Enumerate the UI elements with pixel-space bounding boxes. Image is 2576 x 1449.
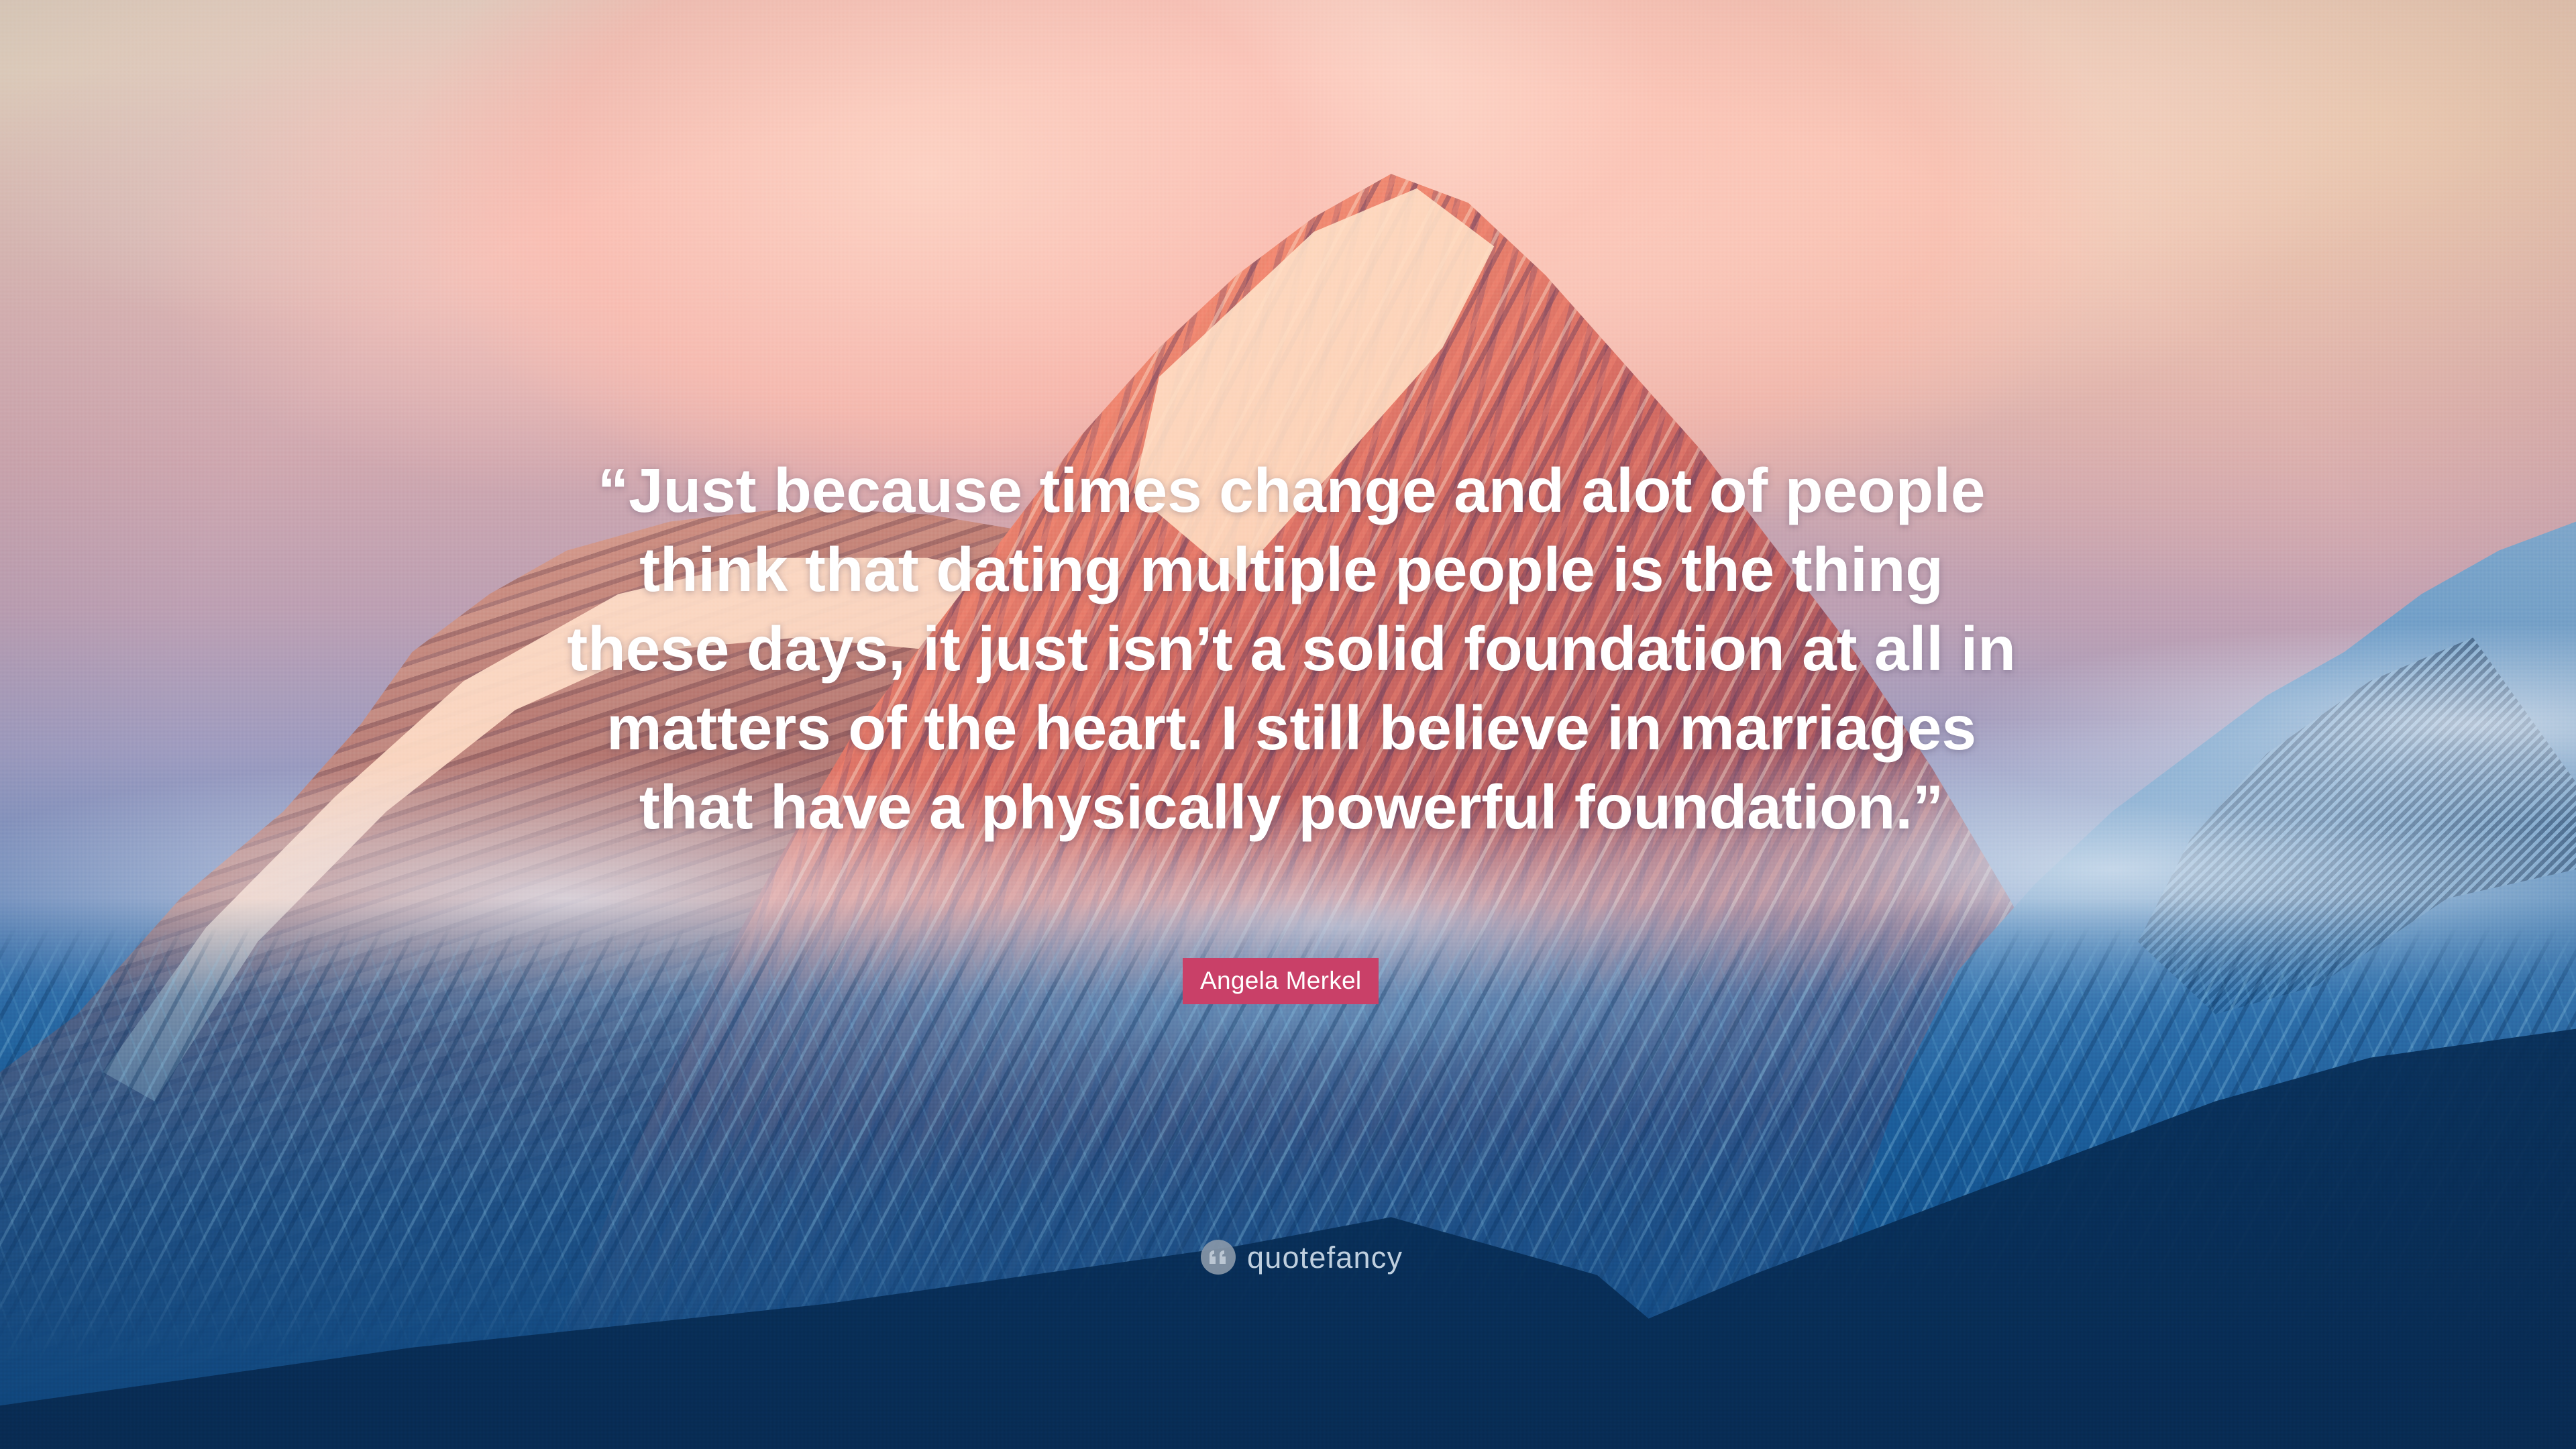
- quote-line-3: these days, it just isn’t a solid founda…: [463, 609, 2120, 688]
- quote-line-4: matters of the heart. I still believe in…: [463, 688, 2120, 767]
- author-badge[interactable]: Angela Merkel: [1183, 958, 1379, 1004]
- quote-block: “Just because times change and alot of p…: [463, 451, 2120, 847]
- quote-poster: “Just because times change and alot of p…: [0, 0, 2576, 1449]
- quotefancy-watermark[interactable]: quotefancy: [1201, 1240, 1403, 1275]
- quote-line-1: “Just because times change and alot of p…: [463, 451, 2120, 530]
- quote-mark-icon: [1201, 1240, 1236, 1275]
- quotefancy-wordmark: quotefancy: [1247, 1242, 1403, 1273]
- quote-line-5: that have a physically powerful foundati…: [463, 767, 2120, 847]
- quote-line-2: think that dating multiple people is the…: [463, 530, 2120, 609]
